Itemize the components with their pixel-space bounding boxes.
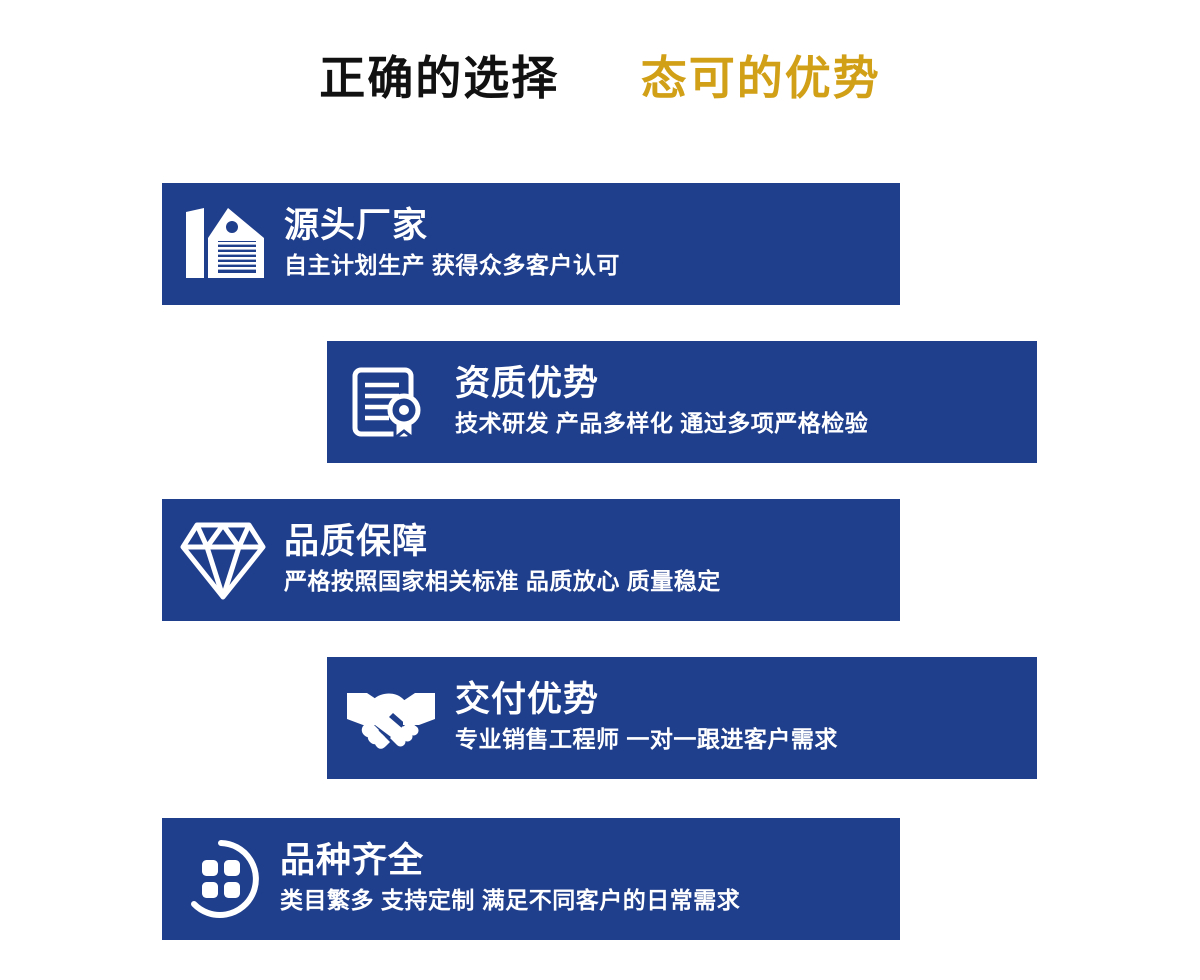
feature-text-block: 品质保障 严格按照国家相关标准 品质放心 质量稳定	[284, 522, 900, 598]
feature-bar-delivery: 交付优势 专业销售工程师 一对一跟进客户需求	[327, 657, 1037, 779]
diamond-icon	[162, 499, 284, 621]
feature-subtitle: 自主计划生产 获得众多客户认可	[284, 252, 900, 280]
feature-bar-factory: 源头厂家 自主计划生产 获得众多客户认可	[162, 183, 900, 305]
feature-subtitle: 严格按照国家相关标准 品质放心 质量稳定	[284, 568, 900, 596]
certificate-icon	[327, 341, 455, 463]
handshake-icon	[327, 657, 455, 779]
feature-title: 品质保障	[284, 522, 900, 562]
feature-bar-variety: 品种齐全 类目繁多 支持定制 满足不同客户的日常需求	[162, 818, 900, 940]
feature-title: 品种齐全	[280, 841, 900, 881]
page-title-accent: 态可的优势	[641, 52, 881, 104]
feature-bar-certificate: 资质优势 技术研发 产品多样化 通过多项严格检验	[327, 341, 1037, 463]
page-title: 正确的选择 态可的优势	[0, 55, 1200, 101]
page-title-primary: 正确的选择	[319, 52, 559, 104]
feature-title: 源头厂家	[284, 206, 900, 246]
factory-icon	[162, 183, 284, 305]
feature-text-block: 源头厂家 自主计划生产 获得众多客户认可	[284, 206, 900, 282]
grid-circle-icon	[162, 818, 280, 940]
feature-text-block: 交付优势 专业销售工程师 一对一跟进客户需求	[455, 680, 1037, 756]
feature-title: 资质优势	[455, 364, 1037, 404]
feature-subtitle: 类目繁多 支持定制 满足不同客户的日常需求	[280, 887, 900, 915]
feature-subtitle: 技术研发 产品多样化 通过多项严格检验	[455, 410, 1037, 438]
feature-text-block: 资质优势 技术研发 产品多样化 通过多项严格检验	[455, 364, 1037, 440]
feature-title: 交付优势	[455, 680, 1037, 720]
feature-subtitle: 专业销售工程师 一对一跟进客户需求	[455, 726, 1037, 754]
feature-bar-quality: 品质保障 严格按照国家相关标准 品质放心 质量稳定	[162, 499, 900, 621]
feature-text-block: 品种齐全 类目繁多 支持定制 满足不同客户的日常需求	[280, 841, 900, 917]
